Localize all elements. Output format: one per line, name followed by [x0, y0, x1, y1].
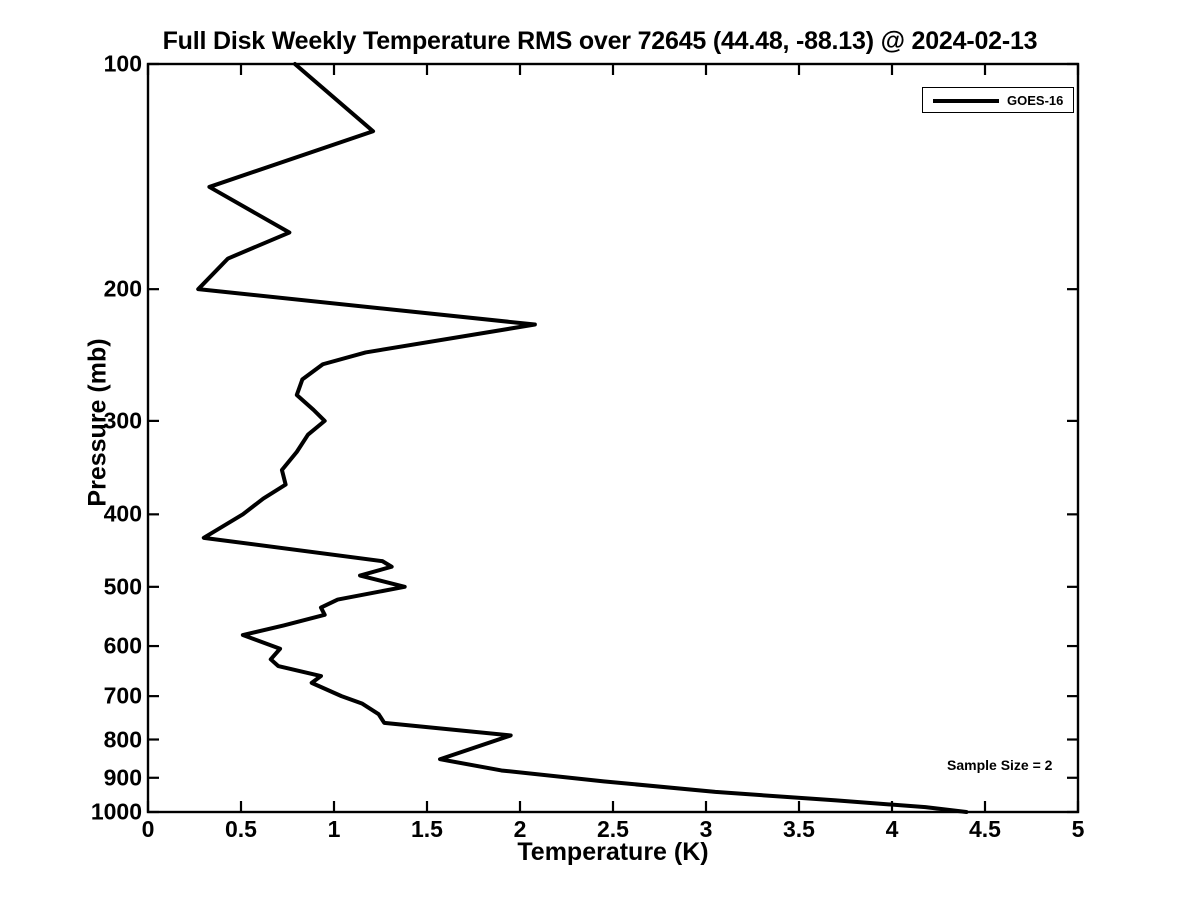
y-tick-label-900: 900	[42, 764, 142, 791]
x-tick-label-4.5: 4.5	[945, 816, 1025, 843]
axis-tick-marks	[148, 64, 1078, 812]
y-tick-label-600: 600	[42, 633, 142, 660]
x-tick-label-3.5: 3.5	[759, 816, 839, 843]
y-tick-label-800: 800	[42, 726, 142, 753]
y-tick-label-100: 100	[42, 51, 142, 78]
x-tick-label-5: 5	[1038, 816, 1118, 843]
x-tick-label-0: 0	[108, 816, 188, 843]
figure-canvas: Full Disk Weekly Temperature RMS over 72…	[0, 0, 1200, 900]
x-tick-label-4: 4	[852, 816, 932, 843]
series-line-goes-16	[198, 64, 966, 812]
y-tick-label-400: 400	[42, 501, 142, 528]
x-tick-label-1.5: 1.5	[387, 816, 467, 843]
y-tick-label-500: 500	[42, 573, 142, 600]
legend[interactable]: GOES-16	[922, 87, 1074, 113]
x-tick-label-2.5: 2.5	[573, 816, 653, 843]
data-series-group	[198, 64, 966, 812]
x-tick-label-3: 3	[666, 816, 746, 843]
y-tick-label-300: 300	[42, 407, 142, 434]
y-axis-tick-labels: 1002003004005006007008009001000	[38, 0, 142, 900]
page-title: Full Disk Weekly Temperature RMS over 72…	[0, 27, 1200, 56]
sample-size-annotation: Sample Size = 2	[947, 757, 1052, 773]
legend-label-goes-16: GOES-16	[1007, 93, 1063, 108]
x-tick-label-1: 1	[294, 816, 374, 843]
legend-line-swatch-goes-16	[933, 99, 999, 103]
y-tick-label-700: 700	[42, 683, 142, 710]
x-tick-label-2: 2	[480, 816, 560, 843]
axis-frame	[148, 64, 1078, 812]
y-tick-label-200: 200	[42, 276, 142, 303]
x-tick-label-0.5: 0.5	[201, 816, 281, 843]
